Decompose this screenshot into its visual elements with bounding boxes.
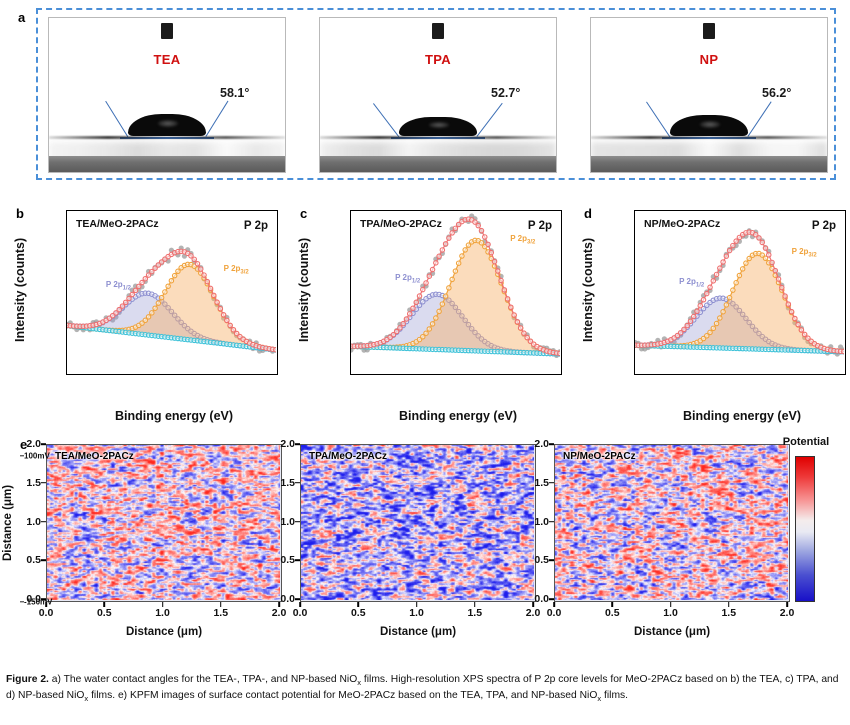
data-point <box>682 327 686 331</box>
data-point <box>120 304 124 308</box>
x-axis-tick-label: 0.5 <box>351 607 366 619</box>
contact-angle-panel: TEA58.1° TPA52.7° NP56.2° <box>36 8 836 180</box>
contact-angle-image-tpa: TPA52.7° <box>319 17 557 173</box>
data-point <box>708 285 712 289</box>
data-point <box>450 231 454 235</box>
xps-chart-np: Intensity (counts) NP/MeO-2PACz P 2p 7k9… <box>582 206 850 421</box>
tangent-line <box>646 101 671 137</box>
data-point <box>773 268 777 272</box>
x-axis-tick-mark <box>713 374 715 375</box>
data-point <box>453 269 457 273</box>
y-axis-tick-label: 1.5 <box>26 477 41 489</box>
data-point <box>770 260 774 264</box>
data-point <box>195 262 199 266</box>
data-point <box>460 254 464 258</box>
x-axis-tick-mark <box>249 374 251 375</box>
data-point <box>734 281 738 285</box>
data-point <box>140 280 144 284</box>
syringe-needle <box>703 23 715 39</box>
x-axis-tick-mark <box>660 374 662 375</box>
contact-angle-sample-name: TEA <box>49 52 285 67</box>
data-point <box>796 322 800 326</box>
data-point <box>218 306 222 310</box>
x-axis-tick-label: 1.0 <box>663 607 678 619</box>
data-point <box>737 273 741 277</box>
kpfm-canvas <box>555 445 788 600</box>
data-point <box>231 328 235 332</box>
data-point <box>401 321 405 325</box>
data-point <box>456 261 460 265</box>
data-point <box>692 314 696 318</box>
y-axis-tick-label: 2.0 <box>534 438 549 450</box>
data-point <box>483 235 487 239</box>
x-axis-tick-label: 2.0 <box>526 607 541 619</box>
data-point <box>731 243 735 247</box>
data-point <box>721 260 725 264</box>
x-axis-tick-label: 0.0 <box>293 607 308 619</box>
data-point <box>169 279 173 283</box>
colorbar-tick-min: -150mV <box>24 598 52 607</box>
data-point <box>447 236 451 240</box>
kpfm-sample-label: NP/MeO-2PACz <box>563 451 636 462</box>
peak-label-p2p1-2: P 2p1/2 <box>106 280 131 292</box>
data-point <box>558 351 560 355</box>
data-point <box>434 316 438 320</box>
plot-area: NP/MeO-2PACz P 2p 7k9k11k13k135134133132… <box>634 210 846 375</box>
data-point <box>447 286 451 290</box>
data-point <box>166 284 170 288</box>
data-point <box>760 240 764 244</box>
kpfm-image-tea: TEA/MeO-2PACz Distance (μm) Distance (μm… <box>46 444 282 602</box>
data-point <box>740 267 744 271</box>
colorbar-tick-max: 100mV <box>24 452 50 461</box>
x-axis-title: Binding energy (eV) <box>66 409 282 423</box>
data-point <box>793 316 797 320</box>
data-point <box>479 241 483 245</box>
y-axis-tick-label: 1.0 <box>534 516 549 528</box>
x-axis-title: Distance (μm) <box>554 626 790 638</box>
y-axis-tick-mark <box>295 521 300 523</box>
x-axis-tick-label: 2.0 <box>272 607 287 619</box>
data-point <box>734 239 738 243</box>
data-point <box>153 306 157 310</box>
data-point <box>767 253 771 257</box>
x-axis-tick-mark <box>145 374 147 375</box>
contact-angle-image-tea: TEA58.1° <box>48 17 286 173</box>
data-point <box>505 297 509 301</box>
y-axis-tick-mark <box>295 482 300 484</box>
data-point <box>427 327 431 331</box>
data-point <box>515 320 519 324</box>
tangent-line <box>747 101 772 137</box>
tangent-line <box>205 101 228 137</box>
kpfm-image-tpa: TPA/MeO-2PACz Distance (μm) 0.00.51.01.5… <box>300 444 536 602</box>
data-point <box>228 323 232 327</box>
data-point <box>496 269 500 273</box>
x-axis-tick-mark <box>376 374 378 375</box>
y-axis-tick-label: 2.0 <box>26 438 41 450</box>
data-point <box>202 273 206 277</box>
data-point <box>430 322 434 326</box>
caption-part-4: films. <box>601 690 628 701</box>
contact-angle-sample-name: NP <box>591 52 827 67</box>
substrate-block <box>320 156 556 172</box>
data-point <box>502 288 506 292</box>
x-axis-tick-mark <box>197 374 199 375</box>
y-axis-tick-label: 1.0 <box>280 516 295 528</box>
kpfm-sample-label: TPA/MeO-2PACz <box>309 451 387 462</box>
data-point <box>443 242 447 246</box>
data-point <box>225 318 229 322</box>
contact-angle-image-np: NP56.2° <box>590 17 828 173</box>
data-point <box>411 306 415 310</box>
data-point <box>688 319 692 323</box>
x-axis-tick-mark <box>429 374 431 375</box>
y-axis-tick-label: 1.0 <box>26 516 41 528</box>
x-axis-tick-label: 0.0 <box>547 607 562 619</box>
x-axis-tick-label: 0.5 <box>605 607 620 619</box>
droplet-highlight <box>429 122 449 129</box>
kpfm-sample-label: TEA/MeO-2PACz <box>55 451 134 462</box>
data-point <box>453 226 457 230</box>
y-axis-tick-label: 0.5 <box>26 554 41 566</box>
data-point <box>424 331 428 335</box>
data-point <box>172 273 176 277</box>
y-axis-tick-label: 0.0 <box>280 593 295 605</box>
kpfm-map: TEA/MeO-2PACz <box>46 444 282 602</box>
data-point <box>695 309 699 313</box>
y-axis-tick-mark <box>549 521 554 523</box>
kpfm-map: NP/MeO-2PACz <box>554 444 790 602</box>
x-axis-title: Binding energy (eV) <box>634 409 850 423</box>
caption-figure-number: Figure 2. <box>6 674 49 685</box>
peak-label-p2p3-2: P 2p3/2 <box>224 264 249 276</box>
x-axis-tick-label: 1.0 <box>409 607 424 619</box>
data-point <box>124 300 128 304</box>
x-axis-title: Distance (μm) <box>46 626 282 638</box>
droplet-highlight <box>158 120 178 127</box>
data-point <box>163 290 167 294</box>
data-point <box>427 274 431 278</box>
y-axis-title: Intensity (counts) <box>12 206 28 374</box>
panel-label-a: a <box>18 10 25 25</box>
data-point <box>450 277 454 281</box>
data-point <box>404 317 408 321</box>
x-axis-tick-label: 0.5 <box>97 607 112 619</box>
data-point <box>424 281 428 285</box>
water-droplet <box>670 115 748 136</box>
y-axis-tick-mark <box>295 598 300 600</box>
x-axis-title: Distance (μm) <box>300 626 536 638</box>
data-point <box>685 323 689 327</box>
data-point <box>215 300 219 304</box>
data-point <box>718 266 722 270</box>
x-axis-tick-mark <box>533 374 535 375</box>
data-point <box>192 257 196 261</box>
potential-colorbar <box>795 456 815 602</box>
peak-label-p2p1-2: P 2p1/2 <box>679 277 704 289</box>
syringe-needle <box>432 23 444 39</box>
x-axis-tick-label: 1.5 <box>721 607 736 619</box>
data-point <box>437 254 441 258</box>
data-point <box>437 309 441 313</box>
peak-label-p2p3-2: P 2p3/2 <box>792 247 817 259</box>
x-axis-tick-mark <box>481 374 483 375</box>
x-axis-title: Binding energy (eV) <box>350 409 566 423</box>
contact-angle-value: 58.1° <box>220 86 249 100</box>
data-point <box>492 259 496 263</box>
spectrum-curves <box>67 211 276 373</box>
y-axis-tick-mark <box>549 598 554 600</box>
data-point <box>802 332 806 336</box>
substrate-block <box>49 156 285 172</box>
y-axis-tick-label: 0.0 <box>534 593 549 605</box>
y-axis-tick-mark <box>295 443 300 445</box>
xps-chart-tpa: Intensity (counts) TPA/MeO-2PACz P 2p 7k… <box>298 206 566 421</box>
peak-label-p2p3-2: P 2p3/2 <box>510 234 535 246</box>
y-axis-title: Intensity (counts) <box>296 206 312 374</box>
data-point <box>711 326 715 330</box>
y-axis-tick-mark <box>41 521 46 523</box>
y-axis-tick-mark <box>549 482 554 484</box>
data-point <box>421 287 425 291</box>
data-point <box>205 279 209 283</box>
data-point <box>159 295 163 299</box>
figure-2: a TEA58.1° TPA52.7° NP56.2° b c d Intens… <box>0 0 850 725</box>
x-axis-tick-label: 1.5 <box>213 607 228 619</box>
kpfm-canvas <box>301 445 534 600</box>
data-point <box>130 292 134 296</box>
data-point <box>479 228 483 232</box>
data-point <box>274 348 276 352</box>
kpfm-map: TPA/MeO-2PACz <box>300 444 536 602</box>
data-point <box>731 288 735 292</box>
x-axis-tick-label: 2.0 <box>780 607 795 619</box>
data-point <box>757 236 761 240</box>
data-point <box>698 303 702 307</box>
data-point <box>127 296 131 300</box>
caption-part-1: a) The water contact angles for the TEA-… <box>49 674 357 685</box>
y-axis-tick-label: 0.5 <box>280 554 295 566</box>
data-point <box>434 261 438 265</box>
plot-area: TEA/MeO-2PACz P 2p 7k9k11k13k13513413313… <box>66 210 278 375</box>
data-point <box>721 310 725 314</box>
x-axis-tick-mark <box>765 374 767 375</box>
data-point <box>714 272 718 276</box>
water-droplet <box>399 117 477 136</box>
water-droplet <box>128 114 206 136</box>
y-axis-tick-mark <box>549 443 554 445</box>
data-point <box>417 294 421 298</box>
data-point <box>486 242 490 246</box>
data-point <box>786 302 790 306</box>
data-point <box>714 321 718 325</box>
data-point <box>408 312 412 316</box>
y-axis-title: Distance (μm) <box>0 444 16 602</box>
x-axis-tick-label: 0.0 <box>39 607 54 619</box>
substrate-surface <box>49 136 285 139</box>
data-point <box>137 284 141 288</box>
peak-label-p2p1-2: P 2p1/2 <box>395 273 420 285</box>
data-point <box>522 331 526 335</box>
data-point <box>414 300 418 304</box>
contact-angle-value: 52.7° <box>491 86 520 100</box>
data-point <box>708 330 712 334</box>
data-point <box>509 305 513 309</box>
data-point <box>776 277 780 281</box>
kpfm-panel: TEA/MeO-2PACz Distance (μm) Distance (μm… <box>0 432 850 662</box>
y-axis-tick-mark <box>41 443 46 445</box>
data-point <box>443 294 447 298</box>
spectrum-curves <box>635 211 844 373</box>
substrate-block <box>591 156 827 172</box>
y-axis-tick-mark <box>41 559 46 561</box>
y-axis-tick-mark <box>295 559 300 561</box>
data-point <box>763 246 767 250</box>
data-point <box>499 278 503 282</box>
plot-area: TPA/MeO-2PACz P 2p 7k9k11k13k13513413313… <box>350 210 562 375</box>
data-point <box>221 313 225 317</box>
contact-angle-value: 56.2° <box>762 86 791 100</box>
data-point <box>146 315 150 319</box>
data-point <box>208 286 212 290</box>
x-axis-tick-label: 1.5 <box>467 607 482 619</box>
data-point <box>156 301 160 305</box>
data-point <box>150 311 154 315</box>
data-point <box>133 288 137 292</box>
data-point <box>799 328 803 332</box>
data-point <box>398 326 402 330</box>
x-axis-tick-mark <box>92 374 94 375</box>
data-point <box>842 349 844 353</box>
droplet-highlight <box>700 121 720 128</box>
data-point <box>199 267 203 271</box>
syringe-needle <box>161 23 173 39</box>
data-point <box>476 223 480 227</box>
data-point <box>789 309 793 313</box>
colorbar-title: Potential <box>762 436 850 448</box>
data-point <box>718 316 722 320</box>
data-point <box>489 250 493 254</box>
data-point <box>711 279 715 283</box>
contact-angle-sample-name: TPA <box>320 52 556 67</box>
data-point <box>701 298 705 302</box>
kpfm-image-np: NP/MeO-2PACz Distance (μm) 0.00.51.01.52… <box>554 444 790 602</box>
peak-fill <box>635 254 844 352</box>
y-axis-tick-mark <box>549 559 554 561</box>
tangent-line <box>105 101 128 137</box>
y-axis-tick-label: 2.0 <box>280 438 295 450</box>
data-point <box>783 294 787 298</box>
data-point <box>724 254 728 258</box>
x-axis-tick-label: 1.0 <box>155 607 170 619</box>
y-axis-tick-label: 0.5 <box>534 554 549 566</box>
data-point <box>705 291 709 295</box>
data-point <box>463 248 467 252</box>
data-point <box>744 261 748 265</box>
data-point <box>724 303 728 307</box>
tangent-line <box>476 103 503 137</box>
tangent-line <box>373 103 400 137</box>
caption-part-3: films. e) KPFM images of surface contact… <box>88 690 597 701</box>
kpfm-canvas <box>47 445 280 600</box>
data-point <box>512 313 516 317</box>
data-point <box>440 302 444 306</box>
xps-chart-tea: Intensity (counts) TEA/MeO-2PACz P 2p 7k… <box>14 206 282 421</box>
y-axis-title: Intensity (counts) <box>580 206 596 374</box>
y-axis-tick-mark <box>41 482 46 484</box>
substrate-surface <box>591 136 827 139</box>
y-axis-tick-label: 1.5 <box>280 477 295 489</box>
data-point <box>440 248 444 252</box>
data-point <box>518 326 522 330</box>
data-point <box>727 295 731 299</box>
data-point <box>780 285 784 289</box>
figure-caption: Figure 2. a) The water contact angles fo… <box>6 672 844 705</box>
data-point <box>727 248 731 252</box>
substrate-surface <box>320 136 556 139</box>
data-point <box>430 267 434 271</box>
x-axis-tick-mark <box>817 374 819 375</box>
y-axis-tick-label: 1.5 <box>534 477 549 489</box>
data-point <box>212 293 216 297</box>
